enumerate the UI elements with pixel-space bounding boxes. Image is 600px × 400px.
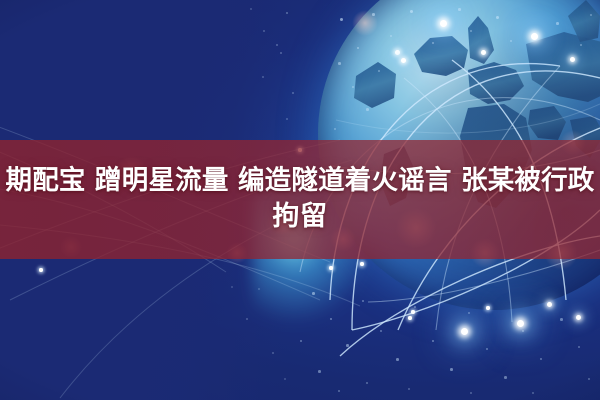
headline-block: 期配宝 蹭明星流量 编造隧道着火谣言 张某被行政 拘留 — [0, 140, 600, 259]
banner-image: 期配宝 蹭明星流量 编造隧道着火谣言 张某被行政 拘留 — [0, 0, 600, 400]
headline-line-1: 期配宝 蹭明星流量 编造隧道着火谣言 张某被行政 — [6, 165, 595, 197]
headline-line-2: 拘留 — [273, 201, 328, 234]
